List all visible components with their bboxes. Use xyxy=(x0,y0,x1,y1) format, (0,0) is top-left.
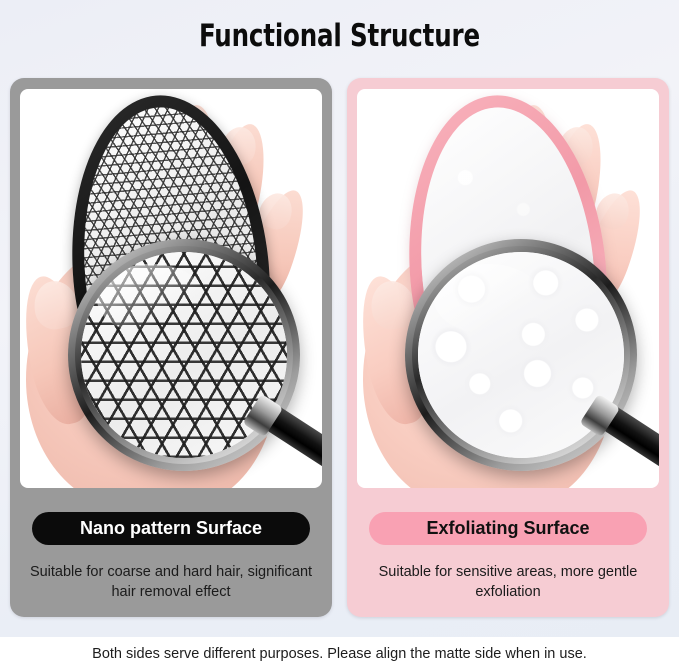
badge-nano-surface: Nano pattern Surface xyxy=(32,512,310,545)
page-title: Functional Structure xyxy=(41,18,639,54)
panel-description-nano: Suitable for coarse and hard hair, signi… xyxy=(22,562,320,602)
product-photo-nano xyxy=(20,89,322,488)
footer-note: Both sides serve different purposes. Ple… xyxy=(92,646,587,662)
panel-description-exfoliating: Suitable for sensitive areas, more gentl… xyxy=(359,562,657,602)
magnifier-exfoliating xyxy=(405,239,637,471)
footer-bar: Both sides serve different purposes. Ple… xyxy=(0,637,679,670)
panel-card-exfoliating: Exfoliating Surface Suitable for sensiti… xyxy=(347,78,669,617)
badge-label: Nano pattern Surface xyxy=(80,518,262,539)
badge-exfoliating-surface: Exfoliating Surface xyxy=(369,512,647,545)
magnifier-nano xyxy=(68,239,300,471)
infographic-canvas: Functional Structure xyxy=(0,0,679,670)
badge-label: Exfoliating Surface xyxy=(426,518,589,539)
photo-scene-nano xyxy=(20,89,322,488)
panel-card-nano: Nano pattern Surface Suitable for coarse… xyxy=(10,78,332,617)
product-photo-exfoliating xyxy=(357,89,659,488)
photo-scene-exfoliating xyxy=(357,89,659,488)
